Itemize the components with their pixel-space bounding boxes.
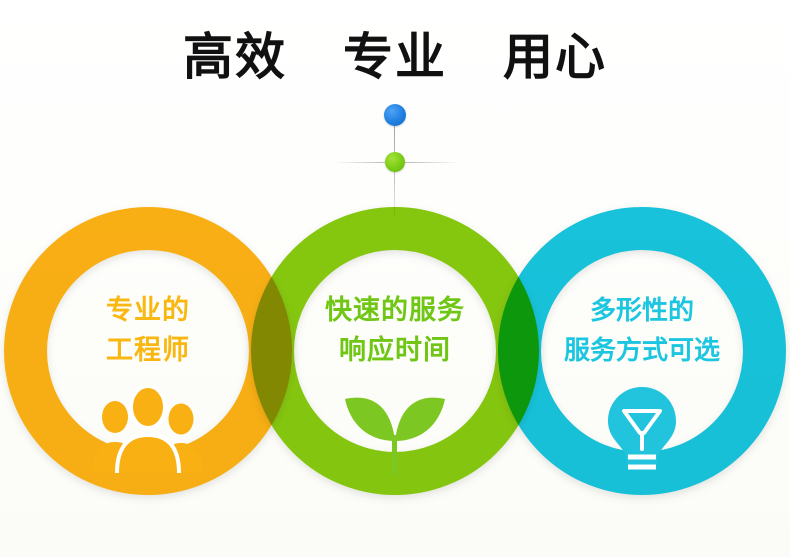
circle-2-line-1: 快速的服务 — [251, 291, 539, 331]
circle-professional-engineers: 专业的 工程师 — [4, 207, 292, 495]
circle-3-text: 多形性的 服务方式可选 — [498, 291, 786, 371]
circle-3-line-1: 多形性的 — [498, 291, 786, 331]
lightbulb-icon — [498, 385, 786, 477]
poster-canvas: 高效专业用心 专业的 工程师 — [0, 0, 790, 557]
circle-1-line-1: 专业的 — [4, 291, 292, 331]
circle-1-line-2: 工程师 — [4, 331, 292, 371]
circle-1-text: 专业的 工程师 — [4, 291, 292, 371]
people-group-icon — [4, 385, 292, 477]
circle-3-line-2: 服务方式可选 — [498, 331, 786, 371]
circle-2-text: 快速的服务 响应时间 — [251, 291, 539, 371]
circle-flexible-service: 多形性的 服务方式可选 — [498, 207, 786, 495]
circle-fast-response: 快速的服务 响应时间 — [251, 207, 539, 495]
circle-2-line-2: 响应时间 — [251, 331, 539, 371]
sprout-leaf-icon — [251, 385, 539, 477]
